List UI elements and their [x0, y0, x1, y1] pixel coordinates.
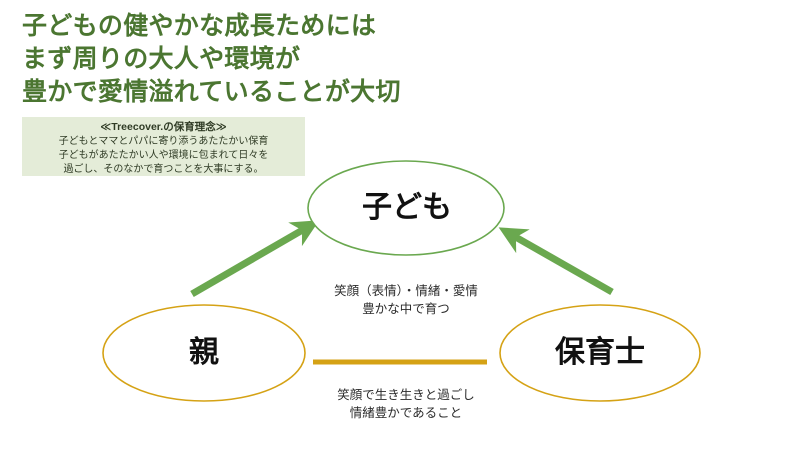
relationship-diagram — [0, 0, 800, 450]
connector-caregiver-to-child — [512, 235, 612, 292]
node-label-parent: 親 — [103, 338, 305, 368]
node-label-caregiver: 保育士 — [500, 338, 700, 368]
connector-caption-upper: 笑顔（表情）・情緒・愛情 豊かな中で育つ — [290, 283, 522, 319]
connector-caption-lower: 笑顔で生き生きと過ごし 情緒豊かであること — [290, 387, 522, 423]
node-label-child: 子ども — [308, 193, 506, 223]
connector-parent-to-child — [192, 228, 306, 294]
slide-canvas: 子どもの健やかな成長ためには まず周りの大人や環境が 豊かで愛情溢れていることが… — [0, 0, 800, 450]
